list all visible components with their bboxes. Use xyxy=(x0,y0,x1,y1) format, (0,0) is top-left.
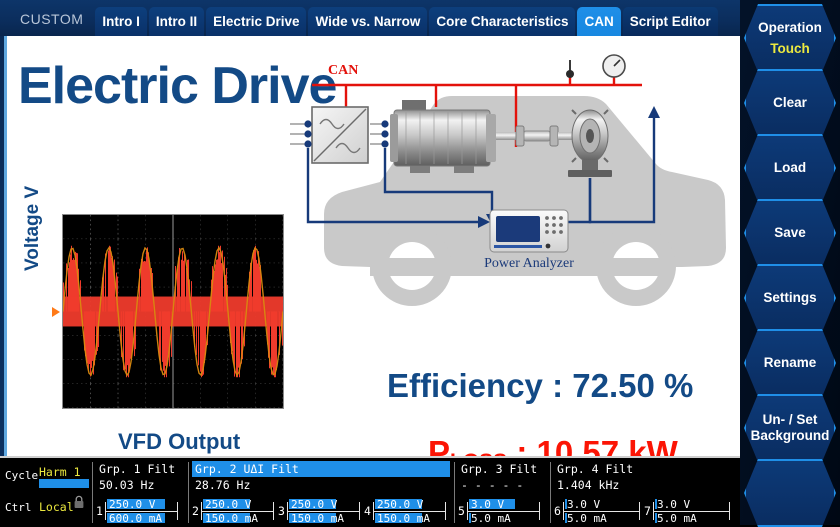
ac-output-terminals xyxy=(370,120,389,147)
group-header[interactable]: Grp. 3 Filt xyxy=(458,461,540,477)
status-separator-1 xyxy=(188,462,189,523)
scale-tick-left xyxy=(105,502,106,520)
ctrl-value[interactable]: Local xyxy=(39,500,74,514)
softkey-label: Un- / Set Background xyxy=(751,412,830,443)
status-group-1[interactable]: Grp. 1 Filt50.03 Hz1250.0 V600.0 mA xyxy=(96,461,188,523)
channel-meter-2[interactable]: 2250.0 V150.0 mA xyxy=(192,497,274,525)
group-frequency: - - - - - xyxy=(461,478,523,492)
cycle-bar xyxy=(39,479,89,488)
trigger-level-marker xyxy=(52,307,60,317)
lock-icon[interactable] xyxy=(73,495,85,509)
softkey-empty-7[interactable] xyxy=(744,459,836,527)
can-bus-label: CAN xyxy=(328,63,358,78)
scale-tick-right xyxy=(729,502,730,520)
group-frequency: 50.03 Hz xyxy=(99,478,154,492)
power-analyzer-label: Power Analyzer xyxy=(484,256,574,271)
current-value: 600.0 mA xyxy=(109,512,162,525)
scale-tick-left xyxy=(563,502,564,520)
current-value: 150.0 mA xyxy=(377,512,430,525)
channel-number: 4 xyxy=(364,504,371,518)
channel-meter-1[interactable]: 1250.0 V600.0 mA xyxy=(96,497,178,525)
efficiency-value: 72.50 % xyxy=(572,367,693,404)
current-value: 5.0 mA xyxy=(657,512,697,525)
status-group-3[interactable]: Grp. 3 Filt- - - - -53.0 V5.0 mA xyxy=(458,461,550,523)
group-frequency: 28.76 Hz xyxy=(195,478,250,492)
scale-tick-left xyxy=(287,502,288,520)
control-status-block: Cycle Harm 1 Ctrl Local xyxy=(3,461,91,523)
group-header[interactable]: Grp. 2 UΔI Filt xyxy=(192,461,450,477)
softkey-load[interactable]: Load xyxy=(744,134,836,202)
current-value: 150.0 mA xyxy=(291,512,344,525)
channel-number: 3 xyxy=(278,504,285,518)
scope-caption: VFD Output xyxy=(118,429,240,455)
channel-number: 5 xyxy=(458,504,465,518)
channel-scale: 3.0 V5.0 mA xyxy=(563,498,640,524)
tab-can[interactable]: CAN xyxy=(577,7,620,36)
powertrain-diagram: CAN xyxy=(284,52,734,352)
channel-scale: 250.0 V600.0 mA xyxy=(105,498,178,524)
softkey-operation[interactable]: OperationTouch xyxy=(744,4,836,72)
channel-number: 6 xyxy=(554,504,561,518)
status-separator-2 xyxy=(454,462,455,523)
cycle-label: Cycle xyxy=(5,469,38,482)
tab-electric-drive[interactable]: Electric Drive xyxy=(206,7,306,36)
voltage-value: 3.0 V xyxy=(567,498,600,511)
softkey-label: Save xyxy=(774,225,806,241)
softkey-sublabel: Touch xyxy=(770,41,810,57)
channel-meter-3[interactable]: 3250.0 V150.0 mA xyxy=(278,497,360,525)
scale-tick-left xyxy=(373,502,374,520)
softkey-settings[interactable]: Settings xyxy=(744,264,836,332)
channel-meter-7[interactable]: 73.0 V5.0 mA xyxy=(644,497,730,525)
tab-core-characteristics[interactable]: Core Characteristics xyxy=(429,7,575,36)
channel-scale: 250.0 V150.0 mA xyxy=(287,498,360,524)
channel-scale: 250.0 V150.0 mA xyxy=(201,498,274,524)
torque-sensor-icon xyxy=(566,60,574,78)
tab-intro-i[interactable]: Intro I xyxy=(95,7,147,36)
scale-tick-left xyxy=(201,502,202,520)
softkey-un-set-background[interactable]: Un- / Set Background xyxy=(744,394,836,462)
scale-tick-right xyxy=(639,502,640,520)
tab-script-editor[interactable]: Script Editor xyxy=(623,7,718,36)
dc-input-terminals xyxy=(290,120,312,147)
channel-scale: 3.0 V5.0 mA xyxy=(653,498,730,524)
motor-block xyxy=(390,100,496,173)
soft-key-rail: OperationTouchClearLoadSaveSettingsRenam… xyxy=(740,0,840,525)
voltage-value: 250.0 V xyxy=(109,498,155,511)
custom-label: CUSTOM xyxy=(8,11,95,36)
efficiency-readout: Efficiency : 72.50 % xyxy=(387,367,693,405)
channel-meter-5[interactable]: 53.0 V5.0 mA xyxy=(458,497,540,525)
voltage-value: 3.0 V xyxy=(471,498,504,511)
cycle-value[interactable]: Harm 1 xyxy=(39,465,81,479)
tab-wide-vs-narrow[interactable]: Wide vs. Narrow xyxy=(308,7,427,36)
tab-bar: CUSTOM Intro IIntro IIElectric DriveWide… xyxy=(0,0,740,36)
inverter-block xyxy=(312,107,368,163)
channel-scale: 3.0 V5.0 mA xyxy=(467,498,540,524)
group-header[interactable]: Grp. 1 Filt xyxy=(96,461,178,477)
power-loss-readout: PLOSS : 10.57 kW xyxy=(428,434,678,456)
scale-tick-right xyxy=(539,502,540,520)
voltage-value: 250.0 V xyxy=(291,498,337,511)
current-value: 5.0 mA xyxy=(567,512,607,525)
tab-intro-ii[interactable]: Intro II xyxy=(149,7,204,36)
scale-tick-right xyxy=(177,502,178,520)
status-separator-0 xyxy=(92,462,93,523)
channel-number: 7 xyxy=(644,504,651,518)
scale-tick-left xyxy=(467,502,468,520)
status-group-4[interactable]: Grp. 4 Filt1.404 kHz63.0 V5.0 mA73.0 V5.… xyxy=(554,461,740,523)
group-frequency: 1.404 kHz xyxy=(557,478,619,492)
status-group-2[interactable]: Grp. 2 UΔI Filt28.76 Hz2250.0 V150.0 mA3… xyxy=(192,461,454,523)
loss-value: 10.57 kW xyxy=(537,434,678,456)
softkey-rename[interactable]: Rename xyxy=(744,329,836,397)
scale-tick-right xyxy=(359,502,360,520)
efficiency-label: Efficiency : xyxy=(387,367,572,404)
loss-separator: : xyxy=(507,434,536,456)
loss-prefix: P xyxy=(428,434,450,456)
softkey-label: Load xyxy=(774,160,806,176)
scale-tick-right xyxy=(273,502,274,520)
voltage-value: 250.0 V xyxy=(377,498,423,511)
channel-scale: 250.0 V150.0 mA xyxy=(373,498,446,524)
softkey-label: Operation xyxy=(758,20,822,36)
channel-number: 1 xyxy=(96,504,103,518)
current-value: 150.0 mA xyxy=(205,512,258,525)
display-canvas[interactable]: Electric Drive Voltage V xyxy=(4,36,740,456)
status-bar: Cycle Harm 1 Ctrl Local Grp. 1 Filt50.03… xyxy=(0,456,740,525)
scope-y-axis-label: Voltage V xyxy=(22,186,44,271)
current-value: 5.0 mA xyxy=(471,512,511,525)
softkey-label: Settings xyxy=(763,290,816,306)
custom-display-screen: CUSTOM Intro IIntro IIElectric DriveWide… xyxy=(0,0,840,525)
power-analyzer-block xyxy=(490,210,568,252)
waveform-display[interactable] xyxy=(62,214,284,409)
scale-tick-right xyxy=(445,502,446,520)
group-header[interactable]: Grp. 4 Filt xyxy=(554,461,636,477)
scale-tick-left xyxy=(653,502,654,520)
softkey-label: Rename xyxy=(764,355,817,371)
waveform-svg xyxy=(63,215,283,408)
ctrl-label: Ctrl xyxy=(5,501,32,514)
softkey-clear[interactable]: Clear xyxy=(744,69,836,137)
channel-meter-4[interactable]: 4250.0 V150.0 mA xyxy=(364,497,446,525)
channel-number: 2 xyxy=(192,504,199,518)
channel-meter-6[interactable]: 63.0 V5.0 mA xyxy=(554,497,640,525)
softkey-save[interactable]: Save xyxy=(744,199,836,267)
speed-gauge-icon xyxy=(603,55,625,77)
status-separator-3 xyxy=(550,462,551,523)
voltage-value: 3.0 V xyxy=(657,498,690,511)
softkey-label: Clear xyxy=(773,95,807,111)
voltage-value: 250.0 V xyxy=(205,498,251,511)
